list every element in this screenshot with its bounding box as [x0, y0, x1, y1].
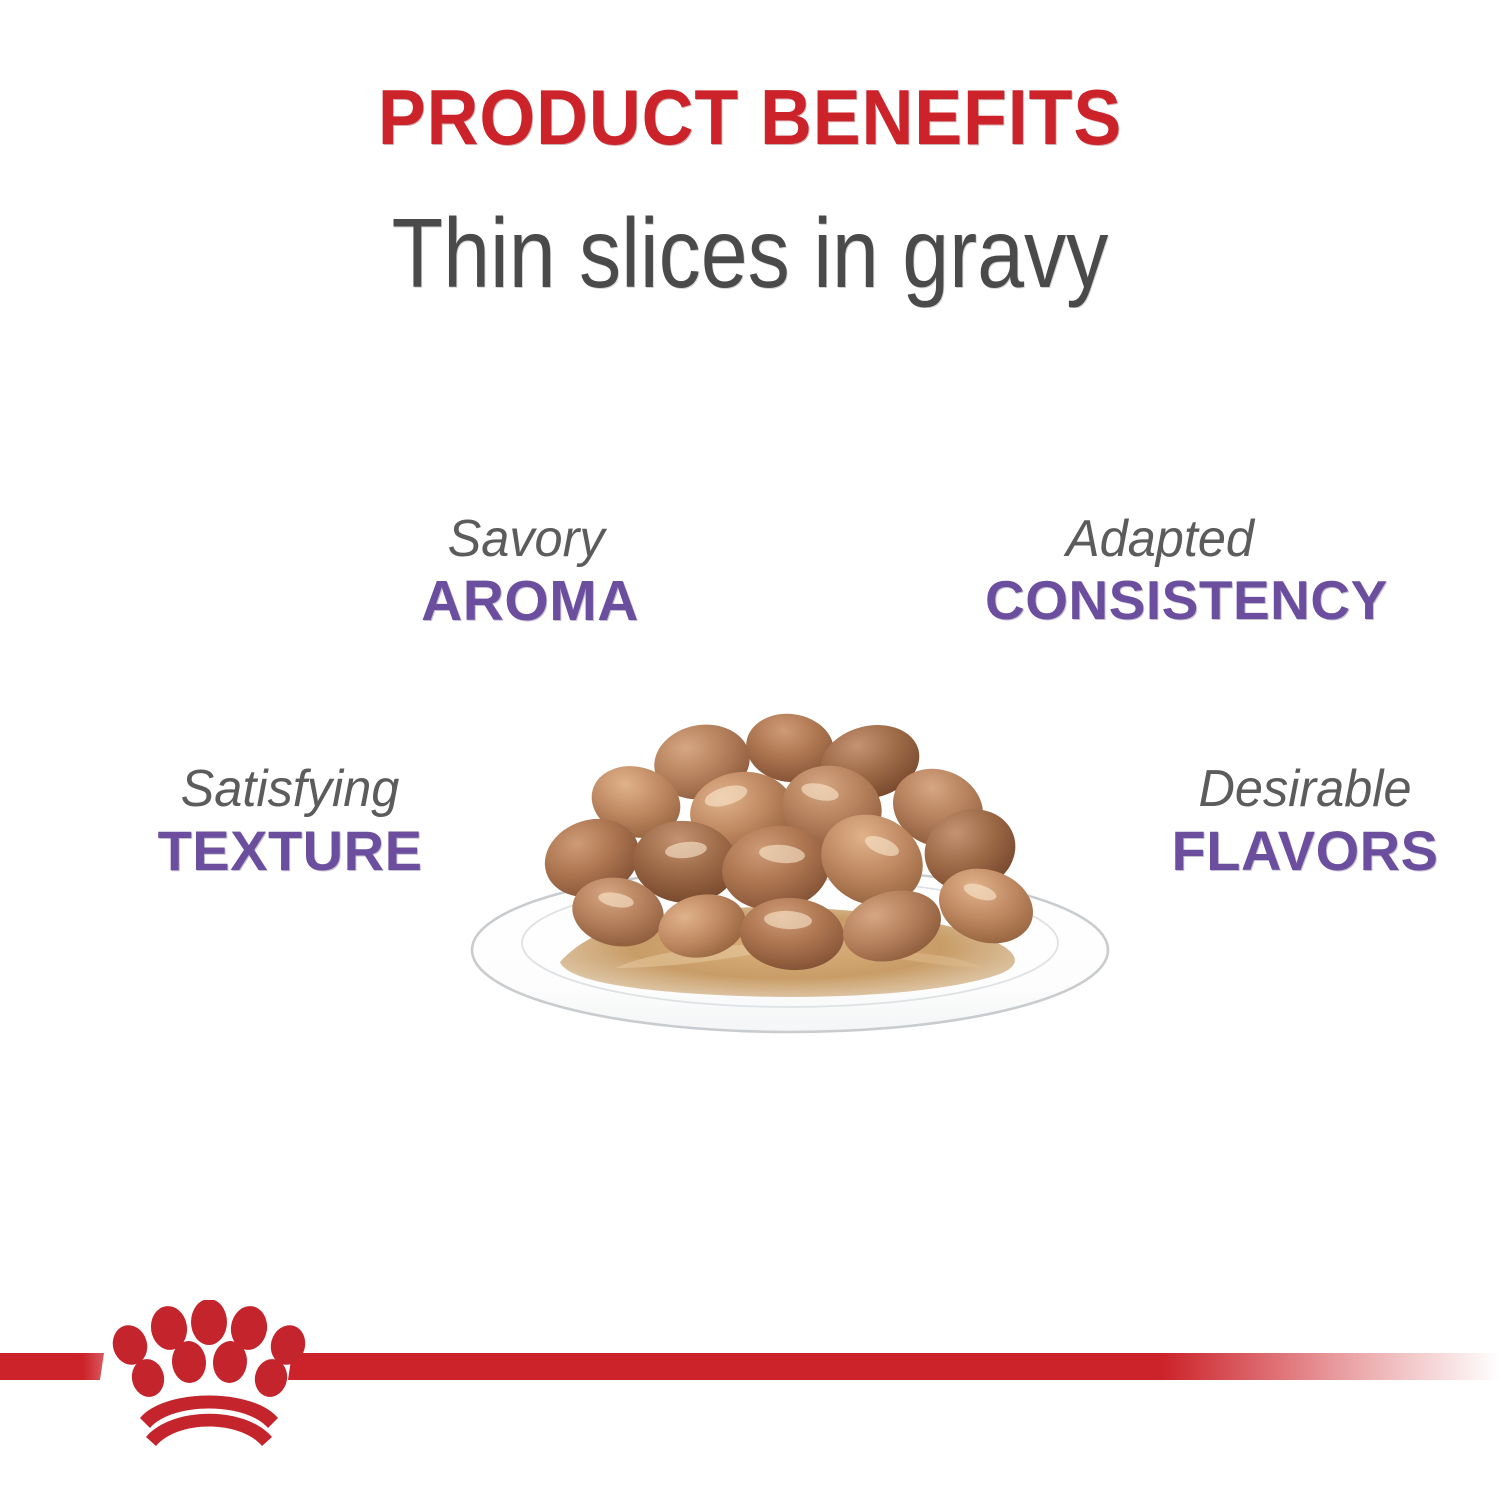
benefit-texture-lead: Satisfying [145, 762, 436, 817]
heading-block: PRODUCT BENEFITS Thin slices in gravy [0, 0, 1500, 302]
benefit-flavors-label: FLAVORS [1160, 821, 1450, 880]
footer-brand-band [0, 1300, 1500, 1500]
royal-canin-crown-icon [108, 1300, 310, 1446]
benefit-consistency-lead: Adapted [990, 512, 1330, 567]
footer-bar-right [288, 1353, 1500, 1380]
benefit-aroma-lead: Savory [415, 512, 638, 567]
footer-bar-left [0, 1353, 104, 1380]
benefit-aroma-label: AROMA [415, 571, 645, 631]
benefit-consistency: Adapted CONSISTENCY [985, 512, 1335, 629]
page-title: PRODUCT BENEFITS [60, 78, 1440, 156]
benefit-flavors: Desirable FLAVORS [1160, 762, 1450, 880]
benefit-texture: Satisfying TEXTURE [140, 762, 440, 880]
benefit-flavors-lead: Desirable [1164, 762, 1445, 817]
page-subtitle: Thin slices in gravy [105, 204, 1395, 302]
benefit-aroma: Savory AROMA [415, 512, 645, 632]
benefit-texture-label: TEXTURE [140, 821, 440, 880]
product-food-image [440, 700, 1140, 1050]
benefit-consistency-label: CONSISTENCY [985, 571, 1335, 629]
